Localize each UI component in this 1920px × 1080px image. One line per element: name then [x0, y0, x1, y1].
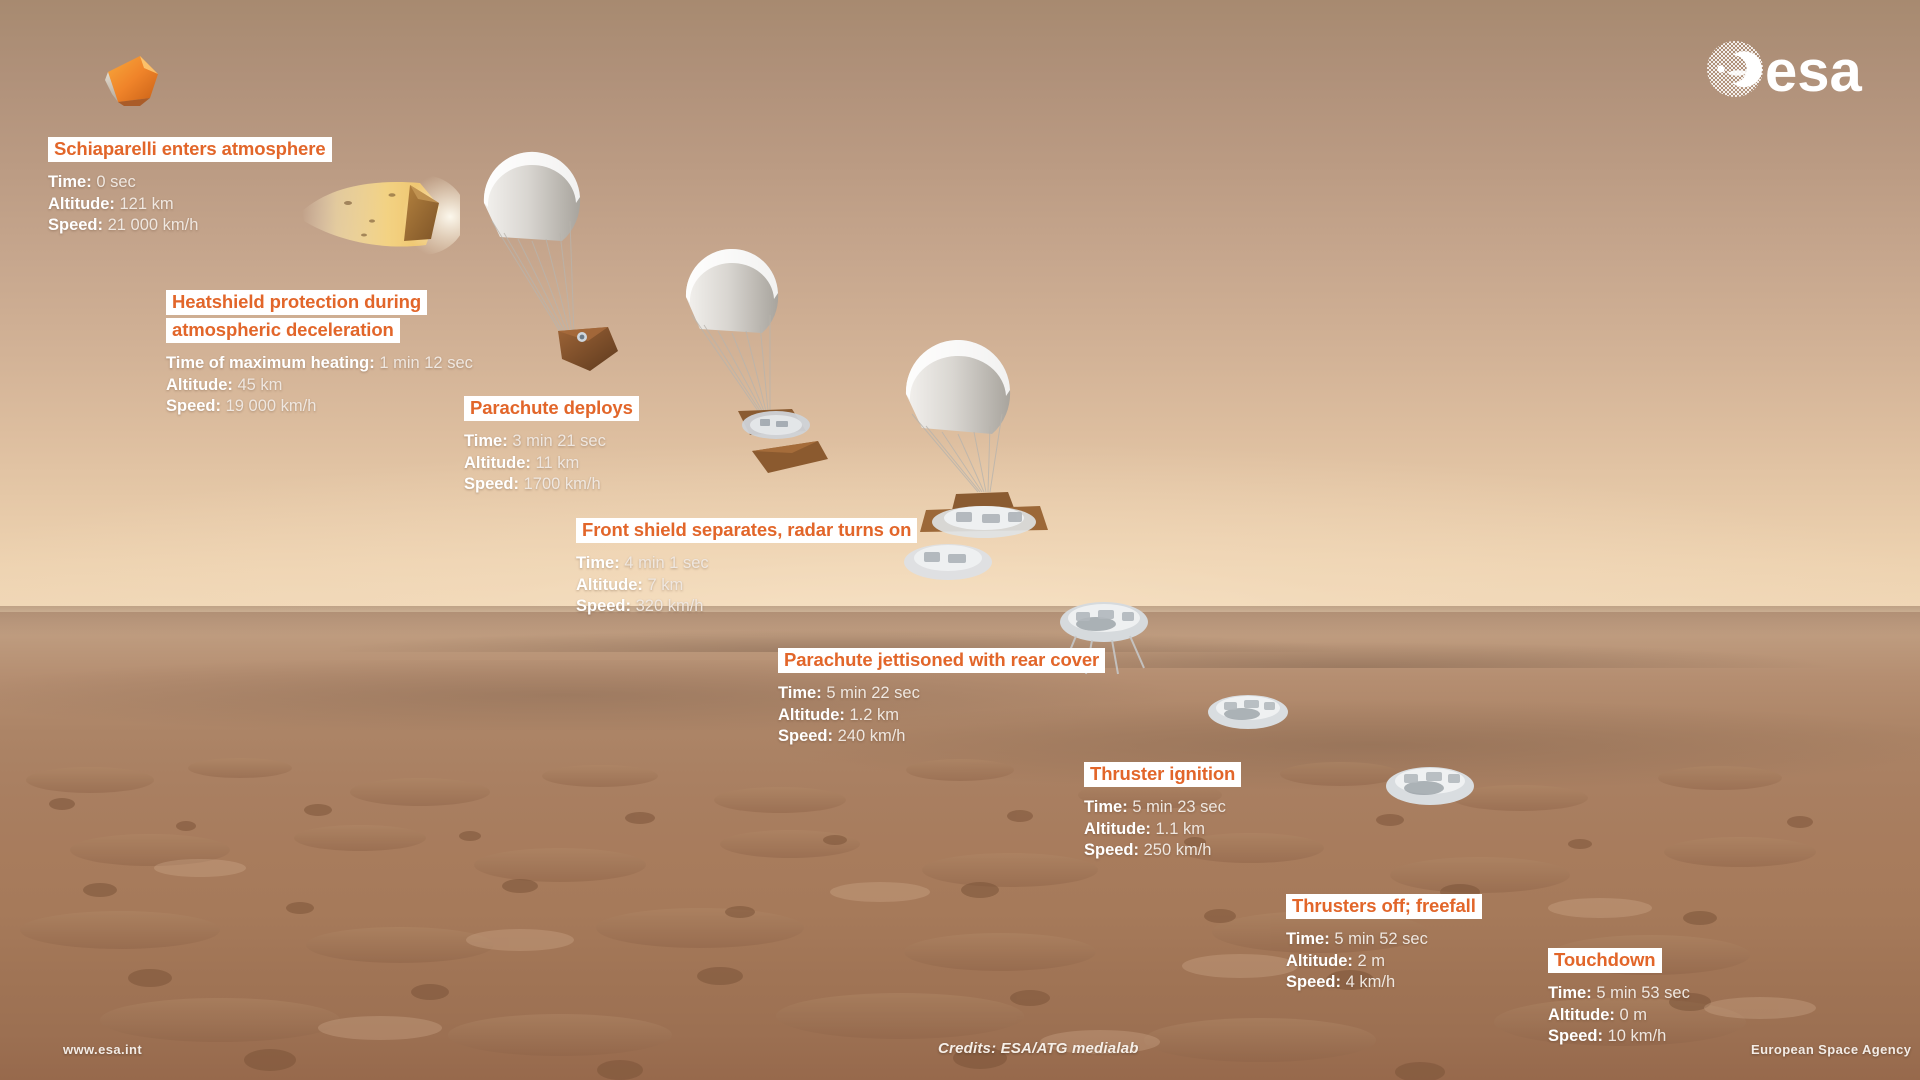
event-title-line: Thruster ignition: [1084, 762, 1241, 787]
stat-time-key: Time:: [48, 173, 92, 191]
event-title-entry: Schiaparelli enters atmosphere: [48, 137, 332, 165]
event-stats: Time of maximum heating: 1 min 12 sec Al…: [166, 353, 473, 418]
agency-name: European Space Agency: [1751, 1042, 1911, 1057]
stat-altitude: Altitude: 2 m: [1286, 951, 1482, 973]
stat-speed: Speed: 4 km/h: [1286, 972, 1482, 994]
event-label-thrusters-off: Thrusters off; freefall Time: 5 min 52 s…: [1286, 894, 1482, 994]
event-label-front-shield: Front shield separates, radar turns on T…: [576, 518, 917, 618]
stat-speed-value: 4 km/h: [1346, 973, 1396, 991]
stat-altitude: Altitude: 1.1 km: [1084, 819, 1241, 841]
stat-time-key: Time:: [576, 554, 620, 572]
stat-altitude: Altitude: 0 m: [1548, 1005, 1690, 1027]
event-stats: Time: 0 sec Altitude: 121 km Speed: 21 0…: [48, 172, 332, 237]
stat-time: Time: 5 min 53 sec: [1548, 983, 1690, 1005]
stat-time: Time: 0 sec: [48, 172, 332, 194]
stat-time: Time: 5 min 22 sec: [778, 683, 1105, 705]
stat-time-value: 5 min 22 sec: [826, 684, 920, 702]
stat-speed: Speed: 1700 km/h: [464, 474, 639, 496]
event-title-parachute-deploys: Parachute deploys: [464, 396, 639, 424]
thrusters-off-lander-icon: [1204, 686, 1294, 736]
stat-time-value: 5 min 53 sec: [1596, 984, 1690, 1002]
event-label-thruster-ignition: Thruster ignition Time: 5 min 23 sec Alt…: [1084, 762, 1241, 862]
stat-time-value: 4 min 1 sec: [624, 554, 708, 572]
descent-sequence-infographic: esa: [0, 0, 1920, 1080]
event-title-line: Parachute jettisoned with rear cover: [778, 648, 1105, 673]
event-title-line: Thrusters off; freefall: [1286, 894, 1482, 919]
stat-time-key: Time:: [778, 684, 822, 702]
stat-time: Time: 5 min 52 sec: [1286, 929, 1482, 951]
stat-speed-value: 250 km/h: [1144, 841, 1212, 859]
event-stats: Time: 5 min 22 sec Altitude: 1.2 km Spee…: [778, 683, 1105, 748]
stat-speed-key: Speed:: [778, 727, 833, 745]
stat-altitude-key: Altitude:: [464, 454, 531, 472]
stat-altitude-value: 1.2 km: [850, 706, 900, 724]
stat-time-key: Time:: [1548, 984, 1592, 1002]
event-title-line: atmospheric deceleration: [166, 318, 400, 343]
event-title-line: Parachute deploys: [464, 396, 639, 421]
stat-altitude: Altitude: 121 km: [48, 194, 332, 216]
stat-altitude-key: Altitude:: [48, 195, 115, 213]
stat-speed: Speed: 250 km/h: [1084, 840, 1241, 862]
stat-altitude-key: Altitude:: [1548, 1006, 1615, 1024]
stat-speed-value: 320 km/h: [636, 597, 704, 615]
stat-altitude-key: Altitude:: [166, 376, 233, 394]
stat-speed-key: Speed:: [1286, 973, 1341, 991]
stat-speed: Speed: 240 km/h: [778, 726, 1105, 748]
event-title-line: Heatshield protection during: [166, 290, 427, 315]
stat-altitude-key: Altitude:: [1286, 952, 1353, 970]
stat-altitude: Altitude: 1.2 km: [778, 705, 1105, 727]
parachute-jettison-icon: [890, 340, 1090, 620]
event-title-touchdown: Touchdown: [1548, 948, 1662, 976]
esa-wordmark: esa: [1765, 39, 1863, 103]
stat-time-key: Time:: [1286, 930, 1330, 948]
stat-speed: Speed: 19 000 km/h: [166, 396, 473, 418]
stat-altitude-value: 1.1 km: [1156, 820, 1206, 838]
stat-altitude: Altitude: 11 km: [464, 453, 639, 475]
stat-altitude-key: Altitude:: [1084, 820, 1151, 838]
stat-speed: Speed: 10 km/h: [1548, 1026, 1690, 1048]
stat-speed-key: Speed:: [576, 597, 631, 615]
touchdown-lander-icon: [1380, 756, 1480, 811]
esa-logo: esa: [1703, 35, 1893, 103]
event-stats: Time: 5 min 23 sec Altitude: 1.1 km Spee…: [1084, 797, 1241, 862]
event-title-thruster-ignition: Thruster ignition: [1084, 762, 1241, 790]
stat-altitude-value: 45 km: [238, 376, 283, 394]
stat-speed: Speed: 21 000 km/h: [48, 215, 332, 237]
stat-speed-key: Speed:: [48, 216, 103, 234]
stat-speed-value: 1700 km/h: [524, 475, 601, 493]
stat-time: Time: 5 min 23 sec: [1084, 797, 1241, 819]
stat-time-key: Time of maximum heating:: [166, 354, 375, 372]
stat-speed-key: Speed:: [1548, 1027, 1603, 1045]
parachute-deploy-icon: [470, 145, 650, 375]
event-stats: Time: 3 min 21 sec Altitude: 11 km Speed…: [464, 431, 639, 496]
stat-altitude-key: Altitude:: [778, 706, 845, 724]
event-title-front-shield: Front shield separates, radar turns on: [576, 518, 917, 546]
event-title-parachute-jettisoned: Parachute jettisoned with rear cover: [778, 648, 1105, 676]
credits-text: Credits: ESA/ATG medialab: [938, 1040, 1139, 1057]
stat-speed-key: Speed:: [1084, 841, 1139, 859]
stat-speed: Speed: 320 km/h: [576, 596, 917, 618]
entry-capsule-icon: [100, 50, 170, 112]
website-url[interactable]: www.esa.int: [63, 1042, 142, 1057]
stat-altitude-value: 121 km: [120, 195, 174, 213]
event-stats: Time: 5 min 52 sec Altitude: 2 m Speed: …: [1286, 929, 1482, 994]
stat-time-value: 1 min 12 sec: [379, 354, 473, 372]
stat-altitude-value: 11 km: [536, 454, 580, 472]
stat-time-value: 5 min 23 sec: [1132, 798, 1226, 816]
event-stats: Time: 5 min 53 sec Altitude: 0 m Speed: …: [1548, 983, 1690, 1048]
stat-time-value: 5 min 52 sec: [1334, 930, 1428, 948]
stat-speed-value: 21 000 km/h: [108, 216, 199, 234]
stat-altitude: Altitude: 45 km: [166, 375, 473, 397]
stat-time-key: Time:: [464, 432, 508, 450]
stat-altitude-key: Altitude:: [576, 576, 643, 594]
stat-speed-value: 240 km/h: [838, 727, 906, 745]
event-label-parachute-deploys: Parachute deploys Time: 3 min 21 sec Alt…: [464, 396, 639, 496]
stat-time-value: 0 sec: [96, 173, 135, 191]
event-title-line: Touchdown: [1548, 948, 1662, 973]
stat-speed-key: Speed:: [166, 397, 221, 415]
stat-speed-value: 19 000 km/h: [226, 397, 317, 415]
event-title-thrusters-off: Thrusters off; freefall: [1286, 894, 1482, 922]
event-label-touchdown: Touchdown Time: 5 min 53 sec Altitude: 0…: [1548, 948, 1690, 1048]
stat-time: Time: 4 min 1 sec: [576, 553, 917, 575]
event-title-line: Schiaparelli enters atmosphere: [48, 137, 332, 162]
event-title-heatshield: Heatshield protection during atmospheric…: [166, 290, 427, 346]
stat-time: Time: 3 min 21 sec: [464, 431, 639, 453]
stat-altitude-value: 0 m: [1620, 1006, 1648, 1024]
stat-altitude: Altitude: 7 km: [576, 575, 917, 597]
event-label-heatshield: Heatshield protection during atmospheric…: [166, 290, 473, 418]
event-label-parachute-jettisoned: Parachute jettisoned with rear cover Tim…: [778, 648, 1105, 748]
event-label-entry: Schiaparelli enters atmosphere Time: 0 s…: [48, 137, 332, 237]
event-title-line: Front shield separates, radar turns on: [576, 518, 917, 543]
stat-altitude-value: 2 m: [1358, 952, 1386, 970]
front-shield-separation-icon: [672, 245, 862, 485]
stat-time-key: Time:: [1084, 798, 1128, 816]
stat-time: Time of maximum heating: 1 min 12 sec: [166, 353, 473, 375]
stat-altitude-value: 7 km: [648, 576, 684, 594]
stat-speed-key: Speed:: [464, 475, 519, 493]
event-stats: Time: 4 min 1 sec Altitude: 7 km Speed: …: [576, 553, 917, 618]
stat-speed-value: 10 km/h: [1608, 1027, 1667, 1045]
stat-time-value: 3 min 21 sec: [512, 432, 606, 450]
